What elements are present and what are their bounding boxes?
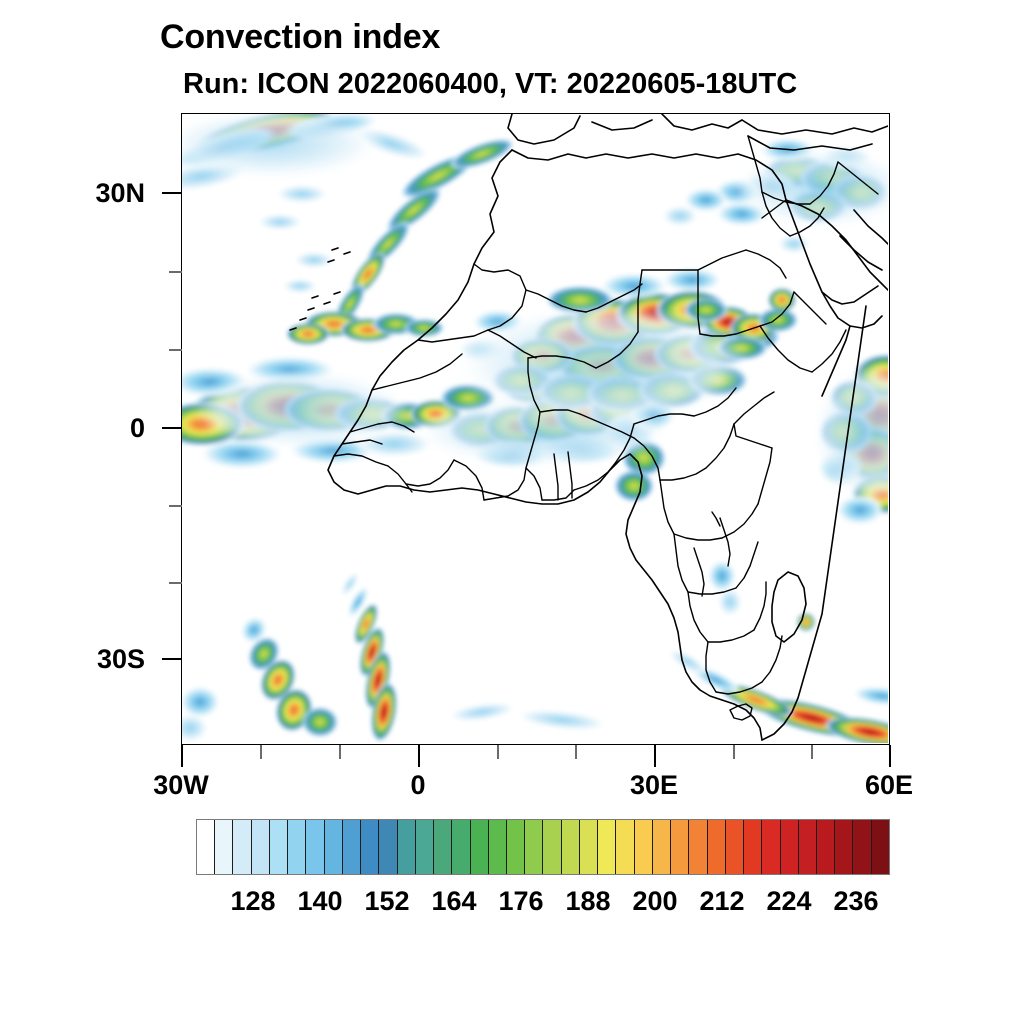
tick-x-0	[418, 745, 420, 767]
colorbar-cell	[343, 820, 361, 874]
colorbar-cell	[507, 820, 525, 874]
tick-x-30w	[181, 745, 183, 767]
tick-x-30e	[654, 745, 656, 767]
colorbar-cell	[543, 820, 561, 874]
colorbar	[196, 819, 890, 875]
tick-y-0	[162, 427, 182, 429]
tick-y-20s	[169, 582, 182, 584]
colorbar-cell	[471, 820, 489, 874]
colorbar-cell	[744, 820, 762, 874]
tick-y-30s	[162, 658, 182, 660]
colorbar-cell	[726, 820, 744, 874]
colorbar-cell	[434, 820, 452, 874]
colorbar-cell	[489, 820, 507, 874]
colorbar-cell	[598, 820, 616, 874]
colorbar-cell	[762, 820, 780, 874]
colorbar-cell	[799, 820, 817, 874]
page-subtitle: Run: ICON 2022060400, VT: 20220605-18UTC	[183, 68, 797, 101]
colorbar-cell	[562, 820, 580, 874]
tick-x-60e	[889, 745, 891, 767]
colorbar-label-236: 236	[799, 886, 913, 917]
colorbar-cell	[853, 820, 871, 874]
colorbar-cell	[616, 820, 634, 874]
colorbar-cell	[635, 820, 653, 874]
colorbar-cell	[233, 820, 251, 874]
tick-x-10e	[497, 745, 499, 759]
colorbar-cell	[525, 820, 543, 874]
colorbar-cell	[325, 820, 343, 874]
colorbar-cell	[653, 820, 671, 874]
colorbar-cell	[671, 820, 689, 874]
tick-x-10w	[339, 745, 341, 759]
tick-x-40e	[733, 745, 735, 759]
axis-label-x-30e: 30E	[594, 770, 714, 801]
colorbar-cell	[872, 820, 889, 874]
colorbar-cell	[817, 820, 835, 874]
colorbar-cell	[361, 820, 379, 874]
map-plot-area	[181, 113, 890, 745]
colorbar-cell	[197, 820, 215, 874]
tick-y-20n	[169, 271, 182, 273]
map-canvas	[182, 114, 888, 743]
colorbar-cell	[708, 820, 726, 874]
colorbar-cell	[452, 820, 470, 874]
colorbar-cell	[306, 820, 324, 874]
colorbar-cell	[215, 820, 233, 874]
figure-root: Convection index Run: ICON 2022060400, V…	[0, 0, 1024, 1024]
colorbar-cell	[288, 820, 306, 874]
colorbar-cell	[379, 820, 397, 874]
axis-label-x-0: 0	[358, 770, 478, 801]
tick-y-30n	[162, 192, 182, 194]
colorbar-cell	[835, 820, 853, 874]
colorbar-cell	[580, 820, 598, 874]
colorbar-cell	[416, 820, 434, 874]
tick-y-10s	[169, 505, 182, 507]
colorbar-cell	[689, 820, 707, 874]
colorbar-cell	[270, 820, 288, 874]
axis-label-y-0: 0	[40, 413, 145, 444]
axis-label-y-30n: 30N	[40, 178, 145, 209]
colorbar-cell	[398, 820, 416, 874]
tick-x-20w	[260, 745, 262, 759]
page-title: Convection index	[160, 18, 440, 57]
colorbar-cell	[781, 820, 799, 874]
axis-label-x-60e: 60E	[829, 770, 949, 801]
tick-y-10n	[169, 349, 182, 351]
axis-label-y-30s: 30S	[40, 644, 145, 675]
tick-x-50e	[811, 745, 813, 759]
tick-x-20e	[575, 745, 577, 759]
axis-label-x-30w: 30W	[121, 770, 241, 801]
colorbar-cell	[252, 820, 270, 874]
